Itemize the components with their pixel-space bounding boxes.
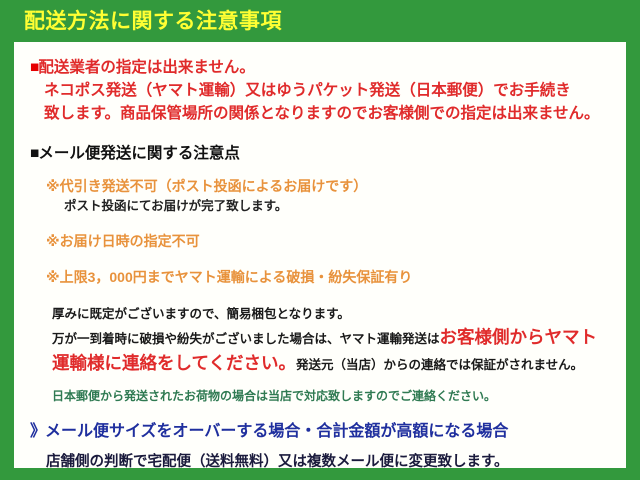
damage-line-3: 運輸様に連絡をしてください。発送元（当店）からの連絡では保証がされません。 [52,351,618,377]
double-chevron-icon: 》 [30,423,45,440]
carrier-line-1-text: 配送業者の指定は出来ません。 [38,59,255,76]
damage-line-3-text: 発送元（当店）からの連絡では保証がされません。 [296,358,583,372]
carrier-line-2: ネコポス発送（ヤマト運輸）又はゆうパケット発送（日本郵便）でお手続き [22,79,618,102]
section-carrier: ■配送業者の指定は出来ません。 ネコポス発送（ヤマト運輸）又はゆうパケット発送（… [22,56,618,125]
damage-line-2: 万が一到着時に破損や紛失がございました場合は、ヤマト運輸発送はお客様側からヤマト [52,325,618,351]
damage-emphasis-2: 運輸様に連絡をしてください。 [52,353,296,373]
oversize-heading-text: メール便サイズをオーバーする場合・合計金額が高額になる場合 [45,423,508,440]
section-mailbin-heading: ■メール便発送に関する注意点 [22,143,618,165]
header-bar: 配送方法に関する注意事項 [0,0,640,42]
damage-line-2-text: 万が一到着時に破損や紛失がございました場合は、ヤマト運輸発送は [52,332,440,346]
mailbin-item-1-sub: ポスト投函にてお届けが完了致します。 [22,197,618,216]
mailbin-item-3: ※上限3，000円までヤマト運輸による破損・紛失保証有り [22,267,618,288]
section-oversize-heading: 》メール便サイズをオーバーする場合・合計金額が高額になる場合 [22,420,618,444]
oversize-line-1: 店舗側の判断で宅配便（送料無料）又は複数メール便に変更致します。 [22,451,618,468]
page-title: 配送方法に関する注意事項 [24,11,282,32]
mailbin-heading-text: メール便発送に関する注意点 [38,145,240,162]
japan-post-note: 日本郵便から発送されたお荷物の場合は当店で対応致しますのでご連絡ください。 [22,386,618,406]
notice-panel: ■配送業者の指定は出来ません。 ネコポス発送（ヤマト運輸）又はゆうパケット発送（… [14,42,626,468]
damage-line-1: 厚みに既定がございますので、簡易梱包となります。 [52,304,618,325]
carrier-line-1: ■配送業者の指定は出来ません。 [22,56,618,79]
mailbin-item-1: ※代引き発送不可（ポスト投函によるお届けです） [22,176,618,197]
mailbin-item-2: ※お届け日時の指定不可 [22,231,618,252]
notice-frame: 配送方法に関する注意事項 ■配送業者の指定は出来ません。 ネコポス発送（ヤマト運… [0,0,640,480]
damage-emphasis-1: お客様側からヤマト [440,327,598,347]
carrier-line-3: 致します。商品保管場所の関係となりますのでお客様側での指定は出来ません。 [22,102,618,125]
section-damage-paragraph: 厚みに既定がございますので、簡易梱包となります。 万が一到着時に破損や紛失がござ… [22,304,618,377]
